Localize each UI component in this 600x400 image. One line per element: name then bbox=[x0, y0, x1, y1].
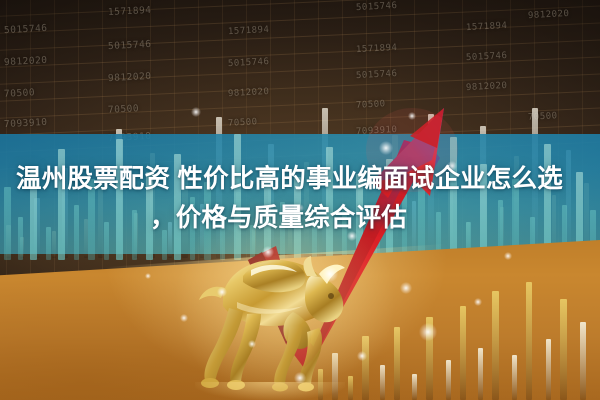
chart-bar bbox=[560, 299, 567, 400]
headline-line-2: ，价格与质量综合评估 bbox=[16, 199, 586, 238]
chart-bar bbox=[546, 339, 551, 400]
chart-bar bbox=[412, 374, 417, 400]
chart-bar bbox=[492, 291, 499, 400]
headline-block: 温州股票配资 性价比高的事业编面试企业怎么选 ，价格与质量综合评估 bbox=[0, 160, 600, 238]
chart-bar bbox=[380, 365, 385, 400]
chart-bar bbox=[580, 322, 586, 400]
chart-bar bbox=[526, 282, 532, 400]
chart-bar bbox=[332, 353, 338, 400]
chart-bar bbox=[512, 355, 517, 400]
chart-bar bbox=[394, 327, 400, 400]
chart-bar bbox=[348, 376, 353, 400]
headline-line-1: 温州股票配资 性价比高的事业编面试企业怎么选 bbox=[16, 160, 586, 199]
chart-bar bbox=[318, 369, 323, 400]
chart-bar bbox=[362, 336, 369, 400]
chart-bar bbox=[446, 360, 451, 400]
chart-bar bbox=[478, 348, 483, 400]
chart-bar bbox=[426, 317, 433, 400]
banner-image: 1571894501574615718945015746501574698120… bbox=[0, 0, 600, 400]
chart-bar bbox=[460, 306, 466, 400]
